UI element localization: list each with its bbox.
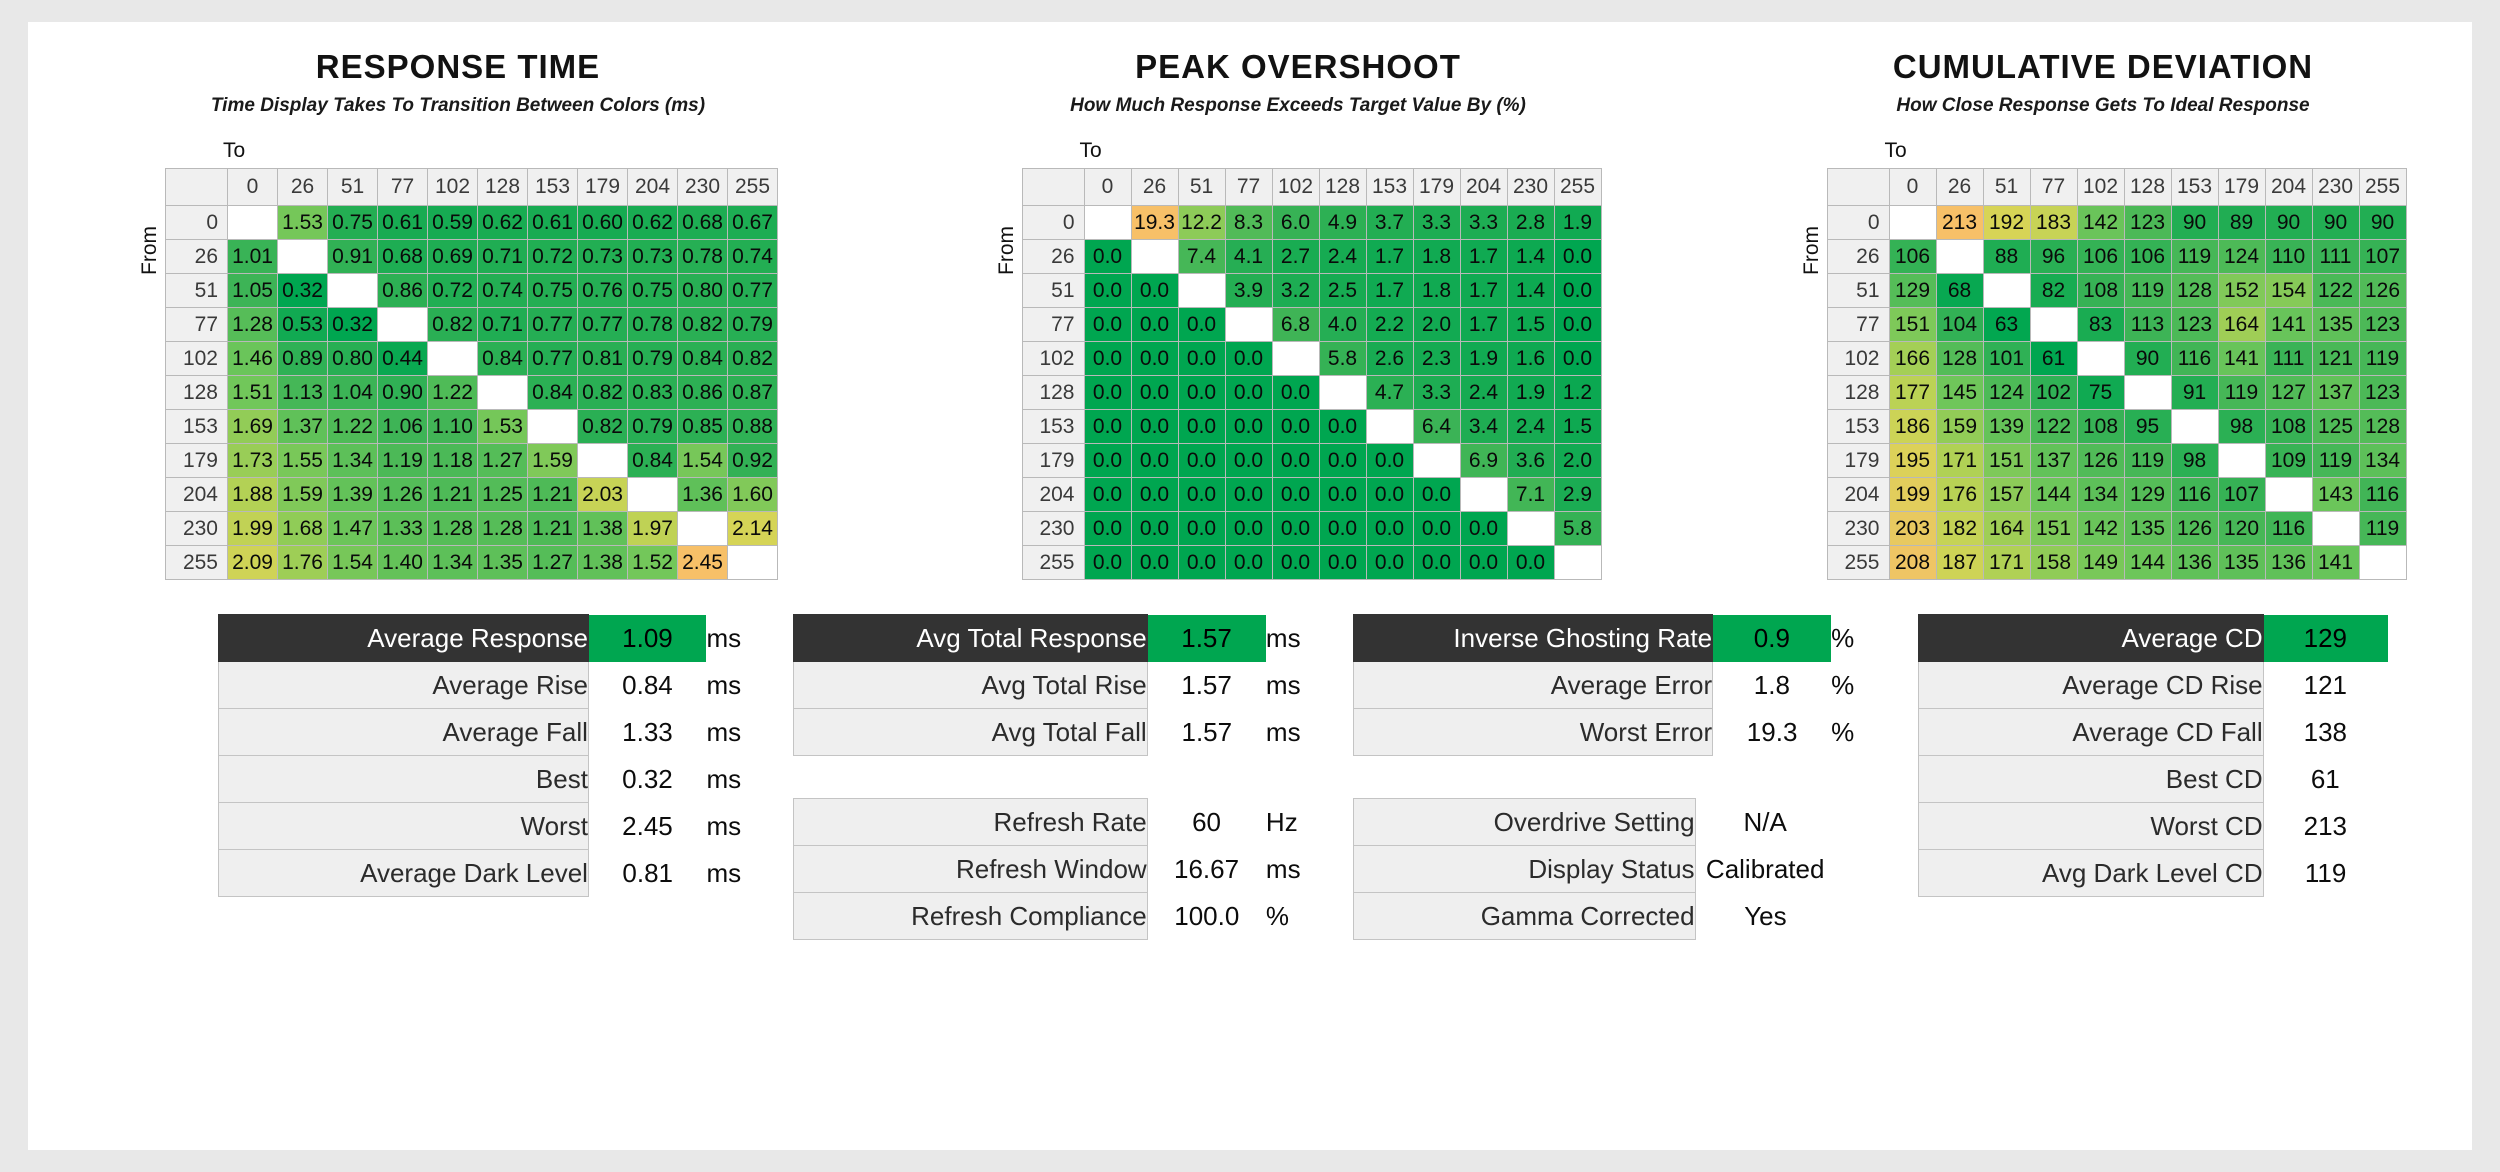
matrix-cell-diagonal	[1178, 274, 1225, 308]
matrix-cell: 1.7	[1366, 240, 1413, 274]
matrix-cell: 134	[2077, 478, 2124, 512]
matrix-cell: 0.0	[1178, 410, 1225, 444]
matrix-cell: 1.33	[378, 512, 428, 546]
matrix-cell: 0.62	[628, 206, 678, 240]
matrix-cell: 108	[2265, 410, 2312, 444]
matrix-cell: 0.0	[1084, 444, 1131, 478]
matrix-cell: 1.22	[428, 376, 478, 410]
stat-label: Refresh Compliance	[794, 893, 1148, 940]
matrix-cell: 0.83	[628, 376, 678, 410]
matrix-row-header: 102	[166, 342, 228, 376]
matrix-cell: 107	[2359, 240, 2406, 274]
matrix-cell-diagonal	[228, 206, 278, 240]
matrix-cell: 4.7	[1366, 376, 1413, 410]
matrix-cell: 0.0	[1272, 478, 1319, 512]
matrix-cell: 157	[1983, 478, 2030, 512]
matrix-row-header: 51	[1827, 274, 1889, 308]
stat-value: 213	[2263, 803, 2387, 850]
matrix-cell: 0.0	[1413, 546, 1460, 580]
matrix-cell: 0.91	[328, 240, 378, 274]
matrix-cell: 0.72	[528, 240, 578, 274]
matrix-cell: 1.22	[328, 410, 378, 444]
matrix-cell: 98	[2218, 410, 2265, 444]
stat-unit: ms	[1266, 709, 1353, 756]
matrix-cell: 1.27	[528, 546, 578, 580]
matrix-row-header: 26	[1022, 240, 1084, 274]
matrix-cell: 151	[1889, 308, 1936, 342]
matrix-cell: 0.76	[578, 274, 628, 308]
matrix-cell: 0.0	[1131, 342, 1178, 376]
matrix-row-header: 128	[1827, 376, 1889, 410]
matrix-cell: 0.0	[1319, 410, 1366, 444]
matrix-cell-diagonal	[278, 240, 328, 274]
matrix-row: 1280.00.00.00.00.04.73.32.41.91.2	[1022, 376, 1601, 410]
matrix-cell: 2.5	[1319, 274, 1366, 308]
stat-label: Overdrive Setting	[1354, 799, 1696, 846]
matrix-cell: 0.92	[728, 444, 778, 478]
stat-unit: %	[1831, 709, 1917, 756]
matrix-cell: 1.38	[578, 546, 628, 580]
matrix-cell: 89	[2218, 206, 2265, 240]
stat-unit: Hz	[1266, 799, 1353, 846]
matrix-cell: 90	[2359, 206, 2406, 240]
grid-col-1: To 026517710212815317920423025501.530.75…	[165, 139, 778, 580]
matrix-cell: 1.27	[478, 444, 528, 478]
matrix-cell: 0.67	[728, 206, 778, 240]
stat-value: 1.57	[1147, 615, 1266, 662]
matrix-col-header: 179	[1413, 169, 1460, 206]
matrix-cell: 1.04	[328, 376, 378, 410]
matrix-cell: 1.69	[228, 410, 278, 444]
matrix-cell: 171	[1983, 546, 2030, 580]
matrix-cell: 102	[2030, 376, 2077, 410]
matrix-cell: 125	[2312, 410, 2359, 444]
stat-row: Avg Dark Level CD119	[1919, 850, 2388, 897]
matrix-cell-diagonal	[2077, 342, 2124, 376]
matrix-cell: 164	[2218, 308, 2265, 342]
matrix-cell: 1.26	[378, 478, 428, 512]
matrix-row: 511.050.320.860.720.740.750.760.750.800.…	[166, 274, 778, 308]
matrix-response-time: 026517710212815317920423025501.530.750.6…	[165, 168, 778, 580]
stat-label: Average Response	[219, 615, 589, 662]
stat-label: Average Error	[1354, 662, 1713, 709]
matrix-cell: 1.18	[428, 444, 478, 478]
matrix-cell: 7.4	[1178, 240, 1225, 274]
matrix-cell: 195	[1889, 444, 1936, 478]
matrix-cell: 6.0	[1272, 206, 1319, 240]
matrix-cell: 1.7	[1460, 240, 1507, 274]
matrix-cell: 124	[2218, 240, 2265, 274]
matrix-row-header: 0	[166, 206, 228, 240]
matrix-cell: 4.0	[1319, 308, 1366, 342]
matrix-cell: 5.8	[1554, 512, 1601, 546]
matrix-cell: 0.0	[1178, 478, 1225, 512]
matrix-cell: 1.21	[428, 478, 478, 512]
matrix-col-header: 51	[328, 169, 378, 206]
matrix-cell: 171	[1936, 444, 1983, 478]
matrix-corner	[166, 169, 228, 206]
stats-table-avg-total: Avg Total Response1.57msAvg Total Rise1.…	[793, 614, 1353, 756]
matrix-cell: 127	[2265, 376, 2312, 410]
matrix-cell: 0.0	[1131, 444, 1178, 478]
matrix-cell-diagonal	[2359, 546, 2406, 580]
matrix-row-header: 204	[1022, 478, 1084, 512]
matrix-cell: 1.4	[1507, 274, 1554, 308]
matrix-cell: 113	[2124, 308, 2171, 342]
matrix-cell: 128	[2171, 274, 2218, 308]
matrix-cell: 192	[1983, 206, 2030, 240]
matrix-row: 1790.00.00.00.00.00.00.06.93.62.0	[1022, 444, 1601, 478]
matrix-cell: 0.78	[678, 240, 728, 274]
matrix-cell: 1.9	[1554, 206, 1601, 240]
matrix-cell: 0.73	[578, 240, 628, 274]
stat-unit: ms	[706, 803, 792, 850]
matrix-cell: 123	[2359, 376, 2406, 410]
matrix-cell: 0.77	[528, 342, 578, 376]
matrix-peak-overshoot: 0265177102128153179204230255019.312.28.3…	[1022, 168, 1602, 580]
matrix-cell: 0.0	[1178, 444, 1225, 478]
matrix-row: 1791.731.551.341.191.181.271.590.841.540…	[166, 444, 778, 478]
stat-label: Best CD	[1919, 756, 2264, 803]
matrix-cell: 1.55	[278, 444, 328, 478]
matrix-cell: 0.0	[1131, 546, 1178, 580]
matrix-cell: 2.8	[1507, 206, 1554, 240]
matrix-row: 255208187171158149144136135136141	[1827, 546, 2406, 580]
matrix-row: 1530.00.00.00.00.00.06.43.42.41.5	[1022, 410, 1601, 444]
matrix-row-header: 255	[1827, 546, 1889, 580]
matrix-cell-diagonal	[1413, 444, 1460, 478]
matrix-cell: 0.79	[628, 410, 678, 444]
matrix-row: 2552.091.761.541.401.341.351.271.381.522…	[166, 546, 778, 580]
matrix-cell: 0.82	[578, 376, 628, 410]
matrix-cell: 1.7	[1366, 274, 1413, 308]
matrix-col-header: 0	[1084, 169, 1131, 206]
matrix-cell: 0.44	[378, 342, 428, 376]
stat-value: 0.84	[588, 662, 706, 709]
matrix-col-header: 26	[1936, 169, 1983, 206]
panel-subtitle-response-time: Time Display Takes To Transition Between…	[211, 95, 705, 117]
matrix-cell: 2.0	[1413, 308, 1460, 342]
matrix-row: 770.00.00.06.84.02.22.01.71.50.0	[1022, 308, 1601, 342]
grid-col-2: To 0265177102128153179204230255019.312.2…	[1022, 139, 1602, 580]
matrix-cell: 0.0	[1319, 512, 1366, 546]
matrix-row-header: 153	[1022, 410, 1084, 444]
matrix-cell: 104	[1936, 308, 1983, 342]
matrix-cell: 1.5	[1554, 410, 1601, 444]
matrix-col-header: 230	[2312, 169, 2359, 206]
matrix-cell: 154	[2265, 274, 2312, 308]
matrix-cell-diagonal	[378, 308, 428, 342]
stat-value: 61	[2263, 756, 2387, 803]
matrix-cell: 111	[2312, 240, 2359, 274]
stats-table-refresh: Refresh Rate60HzRefresh Window16.67msRef…	[793, 798, 1353, 940]
matrix-row-header: 230	[166, 512, 228, 546]
stat-row: Worst Error19.3%	[1354, 709, 1918, 756]
matrix-cell: 98	[2171, 444, 2218, 478]
matrix-cell: 0.0	[1084, 342, 1131, 376]
matrix-cell-diagonal	[2171, 410, 2218, 444]
matrix-cell: 1.4	[1507, 240, 1554, 274]
matrix-cell: 141	[2312, 546, 2359, 580]
matrix-cell-diagonal	[578, 444, 628, 478]
matrix-cell: 129	[1889, 274, 1936, 308]
matrix-row: 230203182164151142135126120116119	[1827, 512, 2406, 546]
matrix-cell: 0.80	[328, 342, 378, 376]
matrix-cell: 1.28	[428, 512, 478, 546]
matrix-cell: 123	[2359, 308, 2406, 342]
matrix-cell: 7.1	[1507, 478, 1554, 512]
matrix-cell: 3.9	[1225, 274, 1272, 308]
stat-label: Display Status	[1354, 846, 1696, 893]
matrix-row-header: 153	[166, 410, 228, 444]
panel-response-time: RESPONSE TIME Time Display Takes To Tran…	[28, 48, 888, 580]
matrix-cell: 0.80	[678, 274, 728, 308]
matrix-cell: 151	[1983, 444, 2030, 478]
matrix-cell: 61	[2030, 342, 2077, 376]
matrix-cell: 96	[2030, 240, 2077, 274]
stat-value: N/A	[1695, 799, 1835, 846]
matrix-cell: 159	[1936, 410, 1983, 444]
matrix-corner	[1827, 169, 1889, 206]
panel-subtitle-peak-overshoot: How Much Response Exceeds Target Value B…	[1070, 95, 1526, 117]
matrix-cell: 0.0	[1554, 240, 1601, 274]
stat-unit: %	[1266, 893, 1353, 940]
matrix-row-header: 77	[1827, 308, 1889, 342]
stat-label: Inverse Ghosting Rate	[1354, 615, 1713, 662]
matrix-cell: 108	[2077, 410, 2124, 444]
stat-label: Best	[219, 756, 589, 803]
matrix-cell: 1.06	[378, 410, 428, 444]
matrix-row-header: 51	[1022, 274, 1084, 308]
stat-value: 121	[2263, 662, 2387, 709]
matrix-cell: 2.0	[1554, 444, 1601, 478]
matrix-cell: 0.84	[478, 342, 528, 376]
stat-unit	[1835, 799, 1917, 846]
stat-row: Display StatusCalibrated	[1354, 846, 1918, 893]
matrix-cell: 0.0	[1554, 274, 1601, 308]
matrix-cell: 0.32	[328, 308, 378, 342]
matrix-col-header: 179	[578, 169, 628, 206]
matrix-row: 204199176157144134129116107143116	[1827, 478, 2406, 512]
axis-label-to-2: To	[1080, 139, 1102, 163]
stat-label: Gamma Corrected	[1354, 893, 1696, 940]
matrix-cell: 0.85	[678, 410, 728, 444]
matrix-cell: 1.25	[478, 478, 528, 512]
matrix-cell-diagonal	[1554, 546, 1601, 580]
response-time-dashboard: RESPONSE TIME Time Display Takes To Tran…	[0, 0, 2500, 1172]
matrix-cell: 1.38	[578, 512, 628, 546]
matrix-row: 1020.00.00.00.05.82.62.31.91.60.0	[1022, 342, 1601, 376]
matrix-cell-diagonal	[1131, 240, 1178, 274]
matrix-cell: 0.61	[528, 206, 578, 240]
matrix-cell: 0.71	[478, 240, 528, 274]
stat-row: Inverse Ghosting Rate0.9%	[1354, 615, 1918, 662]
matrix-cell: 1.9	[1507, 376, 1554, 410]
matrix-cell: 0.0	[1131, 512, 1178, 546]
matrix-cell: 1.28	[228, 308, 278, 342]
matrix-cell: 119	[2124, 444, 2171, 478]
stat-label: Worst Error	[1354, 709, 1713, 756]
matrix-cell: 0.59	[428, 206, 478, 240]
matrix-cell-diagonal	[1460, 478, 1507, 512]
matrix-cell: 2.45	[678, 546, 728, 580]
matrix-cell: 176	[1936, 478, 1983, 512]
axis-label-from-1: From	[138, 201, 162, 301]
stat-row: Avg Total Fall1.57ms	[794, 709, 1353, 756]
stats-col-total-response: Avg Total Response1.57msAvg Total Rise1.…	[793, 614, 1353, 940]
matrix-cell: 0.74	[728, 240, 778, 274]
stat-unit: ms	[706, 662, 792, 709]
matrix-row-header: 26	[166, 240, 228, 274]
matrix-cell: 109	[2265, 444, 2312, 478]
matrix-cell: 1.59	[528, 444, 578, 478]
matrix-cell: 107	[2218, 478, 2265, 512]
matrix-cell: 177	[1889, 376, 1936, 410]
matrix-col-header: 255	[1554, 169, 1601, 206]
matrix-cell: 0.0	[1084, 410, 1131, 444]
matrix-cell: 135	[2124, 512, 2171, 546]
matrix-cell: 116	[2265, 512, 2312, 546]
stat-value: 1.8	[1713, 662, 1831, 709]
matrix-cell-diagonal	[2312, 512, 2359, 546]
stat-unit	[1835, 846, 1917, 893]
matrix-cell: 208	[1889, 546, 1936, 580]
matrix-col-header: 26	[278, 169, 328, 206]
matrix-cell: 3.3	[1460, 206, 1507, 240]
matrix-cell: 3.2	[1272, 274, 1319, 308]
matrix-cell: 0.90	[378, 376, 428, 410]
stat-value: 129	[2263, 615, 2387, 662]
matrix-cell-diagonal	[328, 274, 378, 308]
matrix-row-header: 0	[1827, 206, 1889, 240]
matrix-cell: 0.61	[378, 206, 428, 240]
stat-row: Refresh Window16.67ms	[794, 846, 1353, 893]
stat-label: Refresh Rate	[794, 799, 1148, 846]
matrix-cell: 1.53	[478, 410, 528, 444]
stats-table-display-info: Overdrive SettingN/ADisplay StatusCalibr…	[1353, 798, 1918, 940]
matrix-cell: 199	[1889, 478, 1936, 512]
matrix-cell: 121	[2312, 342, 2359, 376]
matrix-cell: 91	[2171, 376, 2218, 410]
matrix-cell: 203	[1889, 512, 1936, 546]
matrix-cell: 0.0	[1084, 240, 1131, 274]
matrix-cell: 2.03	[578, 478, 628, 512]
matrix-cell: 90	[2124, 342, 2171, 376]
matrix-col-header: 0	[228, 169, 278, 206]
axis-label-to-3: To	[1885, 139, 1907, 163]
matrix-cell: 166	[1889, 342, 1936, 376]
stat-value: 60	[1147, 799, 1266, 846]
matrix-cell-diagonal	[528, 410, 578, 444]
matrix-col-header: 255	[2359, 169, 2406, 206]
axis-label-to-1: To	[223, 139, 245, 163]
matrix-cell: 1.54	[328, 546, 378, 580]
matrix-cell: 75	[2077, 376, 2124, 410]
matrix-cell: 4.9	[1319, 206, 1366, 240]
stat-row: Avg Total Response1.57ms	[794, 615, 1353, 662]
matrix-row: 1531.691.371.221.061.101.530.820.790.850…	[166, 410, 778, 444]
matrix-col-header: 128	[2124, 169, 2171, 206]
matrix-cell: 0.0	[1366, 546, 1413, 580]
matrix-row: 1021661281016190116141111121119	[1827, 342, 2406, 376]
matrix-cell: 144	[2030, 478, 2077, 512]
matrix-cell: 0.0	[1084, 308, 1131, 342]
matrix-cell: 3.3	[1413, 376, 1460, 410]
matrix-cell: 0.0	[1084, 376, 1131, 410]
matrix-cell: 119	[2171, 240, 2218, 274]
matrix-cell: 83	[2077, 308, 2124, 342]
matrix-cell: 0.0	[1413, 512, 1460, 546]
stat-label: Worst CD	[1919, 803, 2264, 850]
matrix-cell: 1.76	[278, 546, 328, 580]
panel-peak-overshoot: PEAK OVERSHOOT How Much Response Exceeds…	[888, 48, 1708, 580]
matrix-cell: 1.34	[428, 546, 478, 580]
matrix-cell: 0.0	[1225, 512, 1272, 546]
matrix-cell-diagonal	[1084, 206, 1131, 240]
matrix-col-header: 102	[428, 169, 478, 206]
panel-title-peak-overshoot: PEAK OVERSHOOT	[1135, 48, 1461, 86]
matrix-row-header: 230	[1022, 512, 1084, 546]
matrix-cell: 0.0	[1131, 308, 1178, 342]
matrix-cell: 1.59	[278, 478, 328, 512]
matrix-cell: 2.9	[1554, 478, 1601, 512]
matrix-row: 2040.00.00.00.00.00.00.00.07.12.9	[1022, 478, 1601, 512]
matrix-cell: 0.0	[1272, 546, 1319, 580]
matrix-cell: 2.4	[1460, 376, 1507, 410]
matrix-cell: 116	[2359, 478, 2406, 512]
matrix-cell: 0.79	[628, 342, 678, 376]
matrix-cell: 0.0	[1084, 546, 1131, 580]
matrix-cell-diagonal	[428, 342, 478, 376]
matrix-cell: 0.84	[628, 444, 678, 478]
matrix-cell: 2.4	[1507, 410, 1554, 444]
matrix-col-header: 153	[2171, 169, 2218, 206]
stat-unit: %	[1831, 615, 1917, 662]
matrix-cell: 0.69	[428, 240, 478, 274]
matrix-row: 17919517115113712611998109119134	[1827, 444, 2406, 478]
stat-value: 2.45	[588, 803, 706, 850]
matrix-cell: 3.4	[1460, 410, 1507, 444]
matrix-cell: 106	[1889, 240, 1936, 274]
matrix-cell: 2.09	[228, 546, 278, 580]
matrix-col-header: 255	[728, 169, 778, 206]
matrix-cell: 183	[2030, 206, 2077, 240]
matrix-row: 261.010.910.680.690.710.720.730.730.780.…	[166, 240, 778, 274]
matrix-cell: 124	[1983, 376, 2030, 410]
matrix-wrap-response-time: From To 026517710212815317920423025501.5…	[138, 139, 778, 580]
matrix-cell: 0.0	[1460, 546, 1507, 580]
matrix-cell: 116	[2171, 342, 2218, 376]
matrix-col-header: 102	[2077, 169, 2124, 206]
matrix-cell: 2.2	[1366, 308, 1413, 342]
matrix-row-header: 179	[1827, 444, 1889, 478]
stat-row: Best0.32ms	[219, 756, 793, 803]
matrix-cell: 135	[2312, 308, 2359, 342]
matrix-cell: 106	[2124, 240, 2171, 274]
axis-label-from-2: From	[995, 201, 1019, 301]
panel-title-response-time: RESPONSE TIME	[316, 48, 600, 86]
matrix-cell: 0.0	[1178, 512, 1225, 546]
matrix-cell: 123	[2171, 308, 2218, 342]
matrix-row: 511296882108119128152154122126	[1827, 274, 2406, 308]
stat-row: Average CD Rise121	[1919, 662, 2388, 709]
matrix-col-header: 0	[1889, 169, 1936, 206]
matrix-cell: 8.3	[1225, 206, 1272, 240]
matrix-cell: 119	[2359, 342, 2406, 376]
stat-label: Average CD Rise	[1919, 662, 2264, 709]
matrix-cell: 0.60	[578, 206, 628, 240]
matrix-row-header: 128	[166, 376, 228, 410]
